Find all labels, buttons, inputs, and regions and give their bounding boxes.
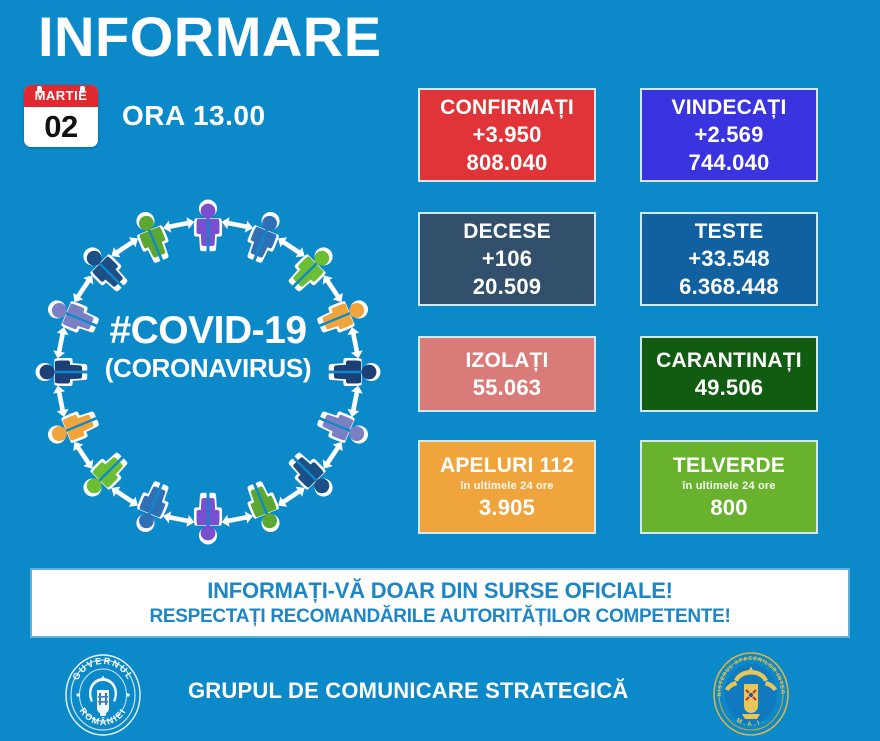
stat-label: TELVERDE [673, 453, 785, 479]
calendar-day: 02 [24, 107, 98, 147]
distance-arrow [319, 439, 347, 472]
distance-arrow [275, 483, 308, 511]
footer-organization: GRUPUL DE COMUNICARE STRATEGICĂ [188, 678, 629, 704]
stat-sublabel: în ultimele 24 ore [460, 479, 553, 494]
distance-arrow [108, 233, 141, 261]
official-sources-notice: INFORMAȚI-VĂ DOAR DIN SURSE OFICIALE! RE… [32, 570, 848, 636]
notice-line-2: RESPECTAȚI RECOMANDĂRILE AUTORITĂȚILOR C… [149, 605, 730, 629]
distance-arrow [319, 272, 347, 305]
stat-label: DECESE [463, 219, 551, 245]
stat-total: 49.506 [695, 374, 764, 401]
date-bar: MARTIE 02 ORA 13.00 [24, 86, 266, 146]
stat-label: TESTE [695, 219, 764, 245]
stat-total: 808.040 [467, 149, 548, 176]
distance-arrow [52, 384, 70, 418]
calendar-month: MARTIE [24, 85, 98, 107]
notice-line-1: INFORMAȚI-VĂ DOAR DIN SURSE OFICIALE! [207, 577, 673, 605]
distance-arrow [69, 272, 97, 305]
stat-card-teste: TESTE+33.5486.368.448 [640, 212, 818, 306]
stat-card-vindecati: VINDECAȚI+2.569744.040 [640, 88, 818, 182]
stat-total: 55.063 [473, 374, 542, 401]
stat-total: 800 [710, 494, 747, 521]
infographic-poster: INFORMARE MARTIE 02 ORA 13.00 [0, 0, 880, 739]
stat-delta: +2.569 [694, 121, 763, 148]
stat-label: VINDECAȚI [672, 95, 787, 121]
distance-arrow [220, 510, 254, 528]
ministerul-afacerilor-interne-seal-icon: MINISTERUL AFACERILOR INTERNE M.A.I. [712, 652, 790, 736]
page-title: INFORMARE [38, 6, 382, 68]
stat-total: 744.040 [689, 149, 770, 176]
stat-card-izolati: IZOLAȚI55.063 [418, 336, 596, 412]
stat-total: 20.509 [473, 273, 542, 300]
distance-arrow [346, 384, 364, 418]
stat-label: CARANTINAȚI [656, 348, 802, 374]
stat-card-decese: DECESE+10620.509 [418, 212, 596, 306]
stat-card-apeluri-112: APELURI 112în ultimele 24 ore3.905 [418, 440, 596, 534]
calendar-ring-left [37, 86, 42, 93]
stat-card-carantinati: CARANTINAȚI49.506 [640, 336, 818, 412]
distance-arrow [220, 216, 254, 234]
distance-arrow [69, 439, 97, 472]
covid-circle-graphic: #COVID-19 (CORONAVIRUS) [18, 186, 398, 556]
stat-delta: +33.548 [688, 245, 770, 272]
stat-card-telverde: TELVERDEîn ultimele 24 ore800 [640, 440, 818, 534]
report-hour: ORA 13.00 [122, 100, 266, 132]
guvernul-romaniei-seal-icon: GUVERNUL ROMÂNIEI [64, 654, 142, 736]
stat-sublabel: în ultimele 24 ore [682, 479, 775, 494]
distance-arrow [52, 326, 70, 360]
stat-label: APELURI 112 [440, 453, 574, 479]
distance-arrow [346, 326, 364, 360]
stat-card-confirmati: CONFIRMAȚI+3.950808.040 [418, 88, 596, 182]
footer: GUVERNUL ROMÂNIEI [0, 648, 880, 739]
stat-total: 6.368.448 [679, 273, 779, 300]
stat-delta: +106 [482, 245, 532, 272]
stat-total: 3.905 [479, 494, 535, 521]
calendar-icon: MARTIE 02 [24, 85, 98, 147]
stat-label: IZOLAȚI [465, 348, 548, 374]
stat-delta: +3.950 [472, 121, 541, 148]
distance-arrow [162, 510, 196, 528]
calendar-ring-right [80, 86, 85, 93]
distance-arrow [275, 233, 308, 261]
distance-arrow [108, 483, 141, 511]
distance-arrow [162, 216, 196, 234]
stat-label: CONFIRMAȚI [440, 95, 574, 121]
